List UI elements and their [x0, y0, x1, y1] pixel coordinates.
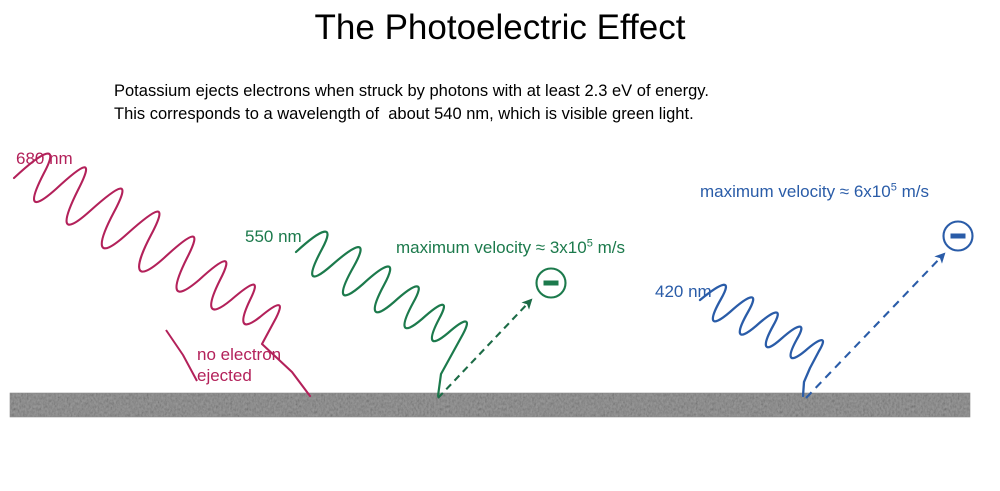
slide-subtitle: Potassium ejects electrons when struck b… [114, 80, 709, 126]
no-electron-ejected-label: no electron ejected [197, 344, 281, 386]
slide-title: The Photoelectric Effect [0, 8, 1000, 48]
subtitle-line-1: Potassium ejects electrons when struck b… [114, 82, 709, 100]
electron-trajectory-blue [806, 254, 944, 398]
no-electron-leader-line [166, 330, 197, 381]
no-electron-line-2: ejected [197, 366, 252, 385]
metal-surface [10, 393, 970, 417]
photon-wave-blue-420nm [700, 285, 823, 396]
wavelength-label-420nm: 420 nm [655, 281, 712, 302]
max-velocity-green-suffix: m/s [593, 238, 625, 257]
max-velocity-green-prefix: maximum velocity ≈ 3x10 [396, 238, 587, 257]
max-velocity-blue-prefix: maximum velocity ≈ 6x10 [700, 182, 891, 201]
electron-green [537, 269, 566, 298]
wavelength-label-680nm: 680 nm [16, 148, 73, 169]
electron-trajectory-green [438, 300, 531, 398]
no-electron-line-1: no electron [197, 345, 281, 364]
electron-blue [944, 222, 973, 251]
subtitle-line-2: This corresponds to a wavelength of abou… [114, 105, 694, 123]
wavelength-label-550nm: 550 nm [245, 226, 302, 247]
max-velocity-label-blue: maximum velocity ≈ 6x105 m/s [700, 181, 929, 202]
max-velocity-blue-suffix: m/s [897, 182, 929, 201]
photoelectric-effect-slide: The Photoelectric Effect Potassium eject… [0, 0, 1000, 491]
max-velocity-label-green: maximum velocity ≈ 3x105 m/s [396, 237, 625, 258]
